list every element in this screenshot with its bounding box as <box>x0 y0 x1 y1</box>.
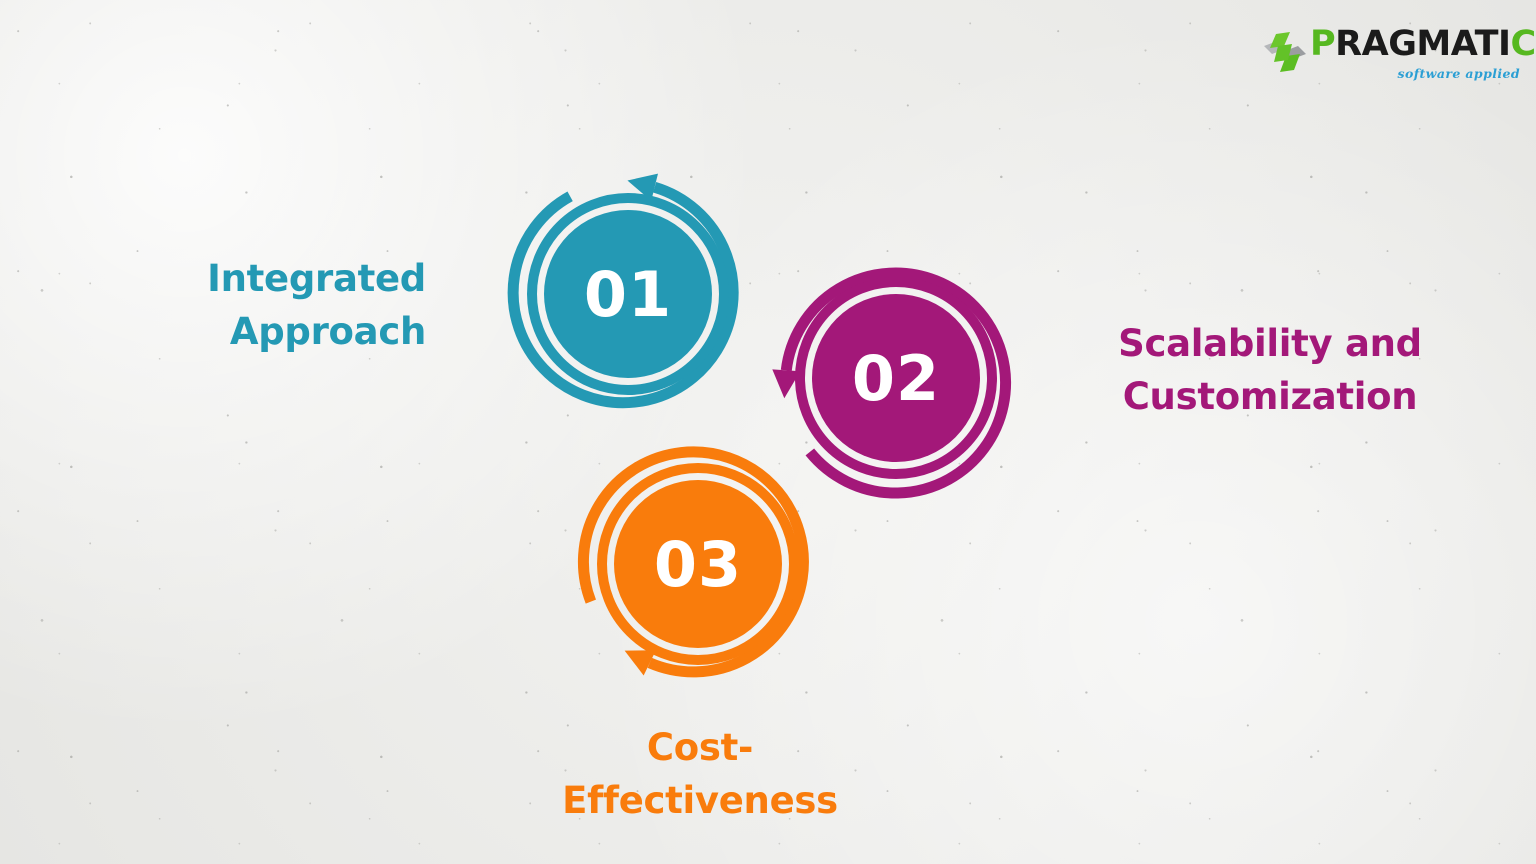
pragmatic-logo[interactable]: PRAGMATIC software applied <box>1262 22 1522 88</box>
step-label-01: Integrated Approach <box>60 253 426 358</box>
pragmatic-wordmark: PRAGMATIC <box>1310 22 1522 66</box>
logo-letters-middle: RAGMATI <box>1335 24 1510 64</box>
logo-tagline: software applied <box>1398 66 1520 81</box>
step-badge-03[interactable]: 03 <box>572 438 824 690</box>
pragmatic-logo-mark-icon <box>1262 30 1308 74</box>
step-label-03: Cost- Effectiveness <box>500 722 900 827</box>
step-badge-01[interactable]: 01 <box>502 168 754 420</box>
infographic-canvas: PRAGMATIC software applied 01 02 <box>0 0 1536 864</box>
logo-letter-c: C <box>1511 24 1536 64</box>
logo-letter-p: P <box>1310 24 1335 64</box>
step-label-02: Scalability and Customization <box>1060 318 1480 423</box>
